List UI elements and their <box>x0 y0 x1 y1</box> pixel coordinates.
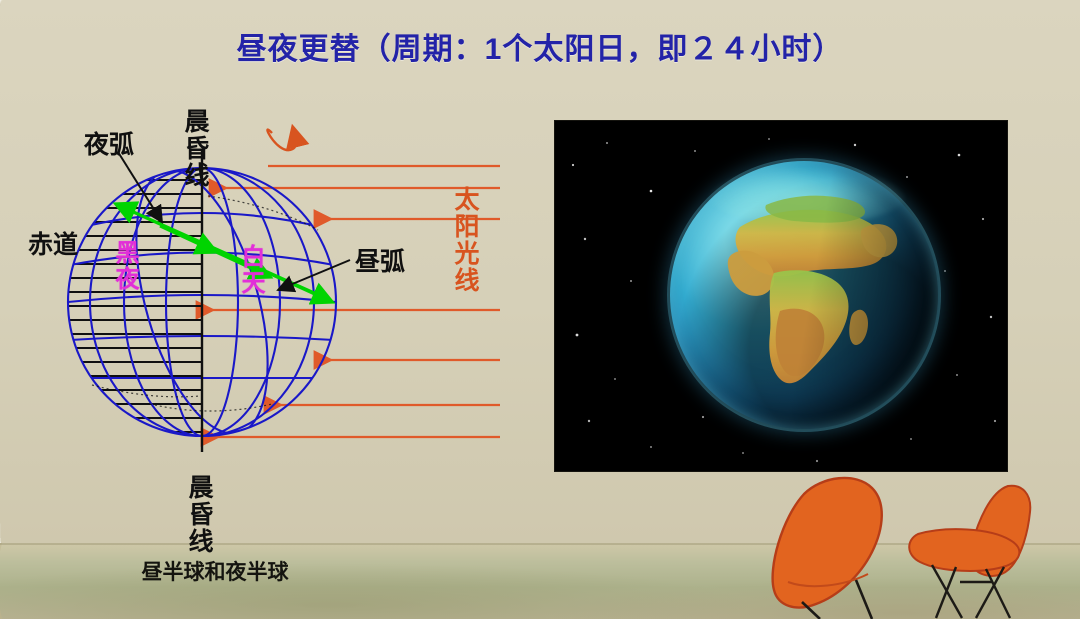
label-equator: 赤道 <box>28 233 78 258</box>
label-terminator-bottom: 晨昏线 <box>186 474 211 555</box>
slide-canvas: 昼夜更替（周期：1个太阳日，即２４小时） <box>0 0 1080 619</box>
chair-left <box>773 478 882 619</box>
label-night: 黑夜 <box>112 240 136 292</box>
earth-globe-image <box>670 161 938 429</box>
diagram-caption: 昼半球和夜半球 <box>0 556 430 586</box>
earth-from-space-photo <box>554 120 1008 472</box>
chairs-svg <box>760 470 1080 619</box>
label-night-arc: 夜弧 <box>84 133 134 158</box>
label-day-arc: 昼弧 <box>355 250 405 275</box>
earth-atmosphere-limb <box>667 158 941 432</box>
label-terminator-top: 晨昏线 <box>182 108 207 189</box>
earth-day-night-diagram: 夜弧 晨昏线 赤道 黑夜 白天 昼弧 太阳光线 晨昏线 <box>0 0 540 560</box>
label-daytime: 白天 <box>238 244 262 296</box>
decorative-chairs <box>760 470 1080 619</box>
chair-right <box>909 486 1030 618</box>
rotation-direction-arrow <box>118 205 330 301</box>
label-sun-rays: 太阳光线 <box>452 186 477 294</box>
rotation-arrow-icon <box>267 130 296 151</box>
